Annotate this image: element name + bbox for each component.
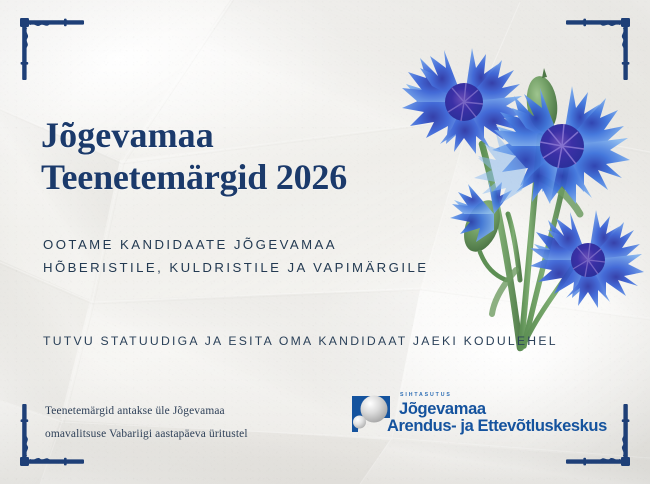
logo-line-2: Arendus- ja Ettevõtluskeskus [387, 418, 607, 435]
title-line-2: Teenetemärgid 2026 [41, 157, 347, 197]
logo-kicker: SIHTASUTUS [400, 393, 607, 398]
poster-content: JõgevamaaTeenetemärgid 2026 OOTAME KANDI… [0, 0, 650, 484]
poster: JõgevamaaTeenetemärgid 2026 OOTAME KANDI… [0, 0, 650, 484]
page-title: JõgevamaaTeenetemärgid 2026 [41, 114, 347, 199]
organization-logo: SIHTASUTUS Jõgevamaa Arendus- ja Ettevõt… [349, 392, 607, 436]
subtitle-line-1: OOTAME KANDIDAATE JÕGEVAMAA [43, 237, 337, 252]
logo-wordmark: SIHTASUTUS Jõgevamaa Arendus- ja Ettevõt… [399, 393, 607, 434]
footnote-line-2: omavalitsuse Vabariigi aastapäeva üritus… [45, 428, 248, 440]
logo-line-1: Jõgevamaa [399, 401, 607, 418]
footnote: Teenetemärgid antakse üle Jõgevamaaomava… [45, 400, 248, 447]
call-to-action-text: TUTVU STATUUDIGA JA ESITA OMA KANDIDAAT … [43, 334, 558, 348]
footnote-line-1: Teenetemärgid antakse üle Jõgevamaa [45, 405, 225, 417]
subtitle-line-2: HÕBERISTILE, KULDRISTILE JA VAPIMÄRGILE [43, 260, 429, 275]
title-line-1: Jõgevamaa [41, 115, 214, 155]
subtitle: OOTAME KANDIDAATE JÕGEVAMAAHÕBERISTILE, … [43, 234, 429, 279]
